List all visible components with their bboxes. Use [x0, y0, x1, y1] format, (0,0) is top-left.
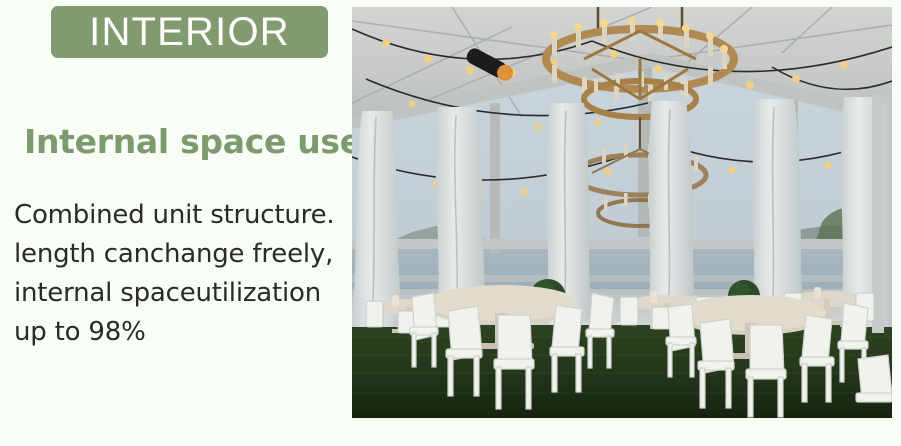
description-line: up to 98% [14, 313, 349, 352]
description-line: length canchange freely, [14, 235, 349, 274]
description-line: Combined unit structure. [14, 196, 349, 235]
interior-badge: INTERIOR [51, 6, 328, 58]
tent-interior-photo [352, 7, 892, 418]
description-line: internal spaceutilization [14, 274, 349, 313]
text-column: INTERIOR Internal space use Combined uni… [0, 0, 352, 446]
interior-badge-label: INTERIOR [89, 12, 290, 52]
description-text: Combined unit structure. length canchang… [14, 196, 349, 352]
section-heading: Internal space use [24, 124, 362, 160]
promo-banner: INTERIOR Internal space use Combined uni… [0, 0, 901, 446]
